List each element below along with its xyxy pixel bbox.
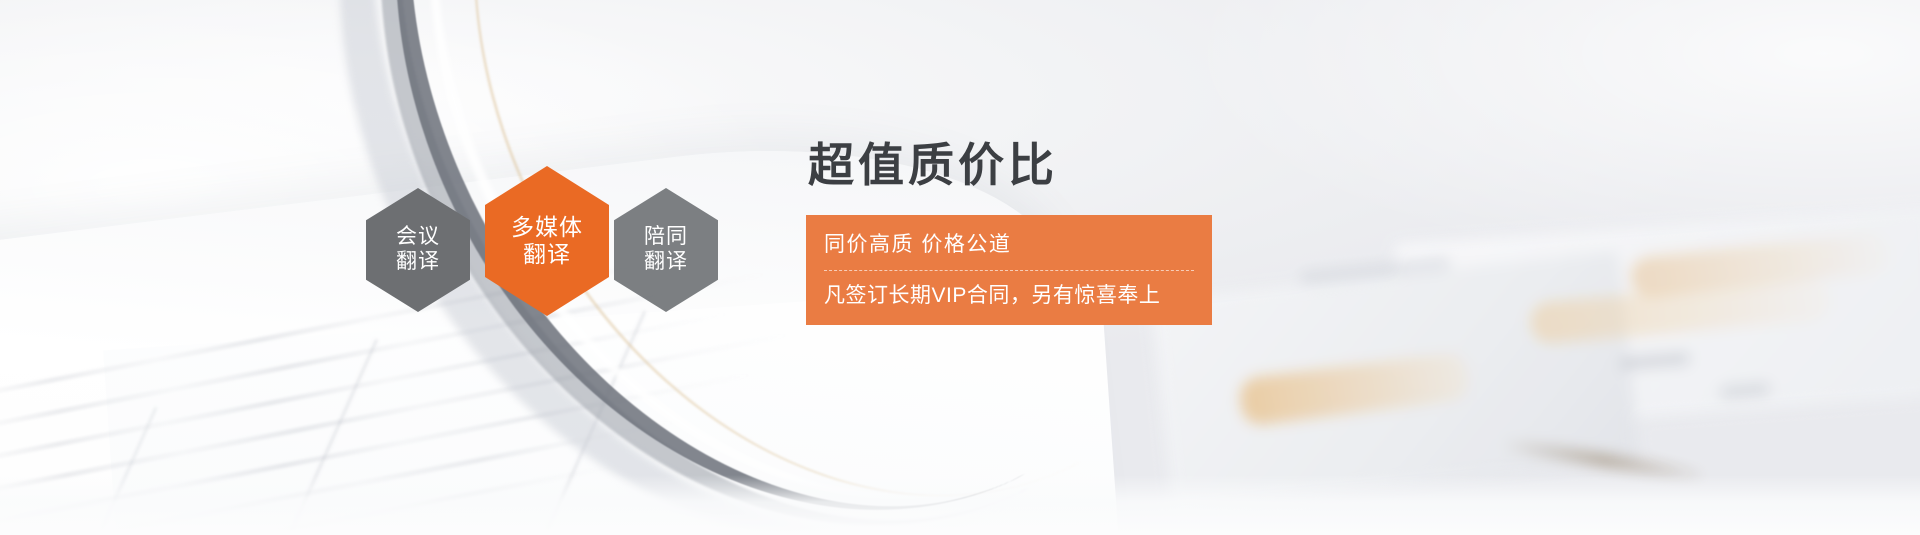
promo-banner: 会议 翻译 陪同 翻译 多媒体 翻译 超值质价比 同价高质 价格公道 凡签订长期… <box>0 0 1920 535</box>
hexagon-label-line2: 翻译 <box>396 250 440 275</box>
promo-box: 同价高质 价格公道 凡签订长期VIP合同，另有惊喜奉上 <box>806 215 1212 325</box>
promo-line-vip: 凡签订长期VIP合同，另有惊喜奉上 <box>824 280 1212 312</box>
hexagon-label-line1: 陪同 <box>644 225 688 250</box>
hexagon-multimedia-translation[interactable]: 多媒体 翻译 <box>485 166 609 316</box>
promo-line-value: 同价高质 价格公道 <box>824 229 1212 270</box>
hexagon-label-line2: 翻译 <box>644 250 688 275</box>
hexagon-conference-translation[interactable]: 会议 翻译 <box>366 188 470 312</box>
service-hexagon-group: 会议 翻译 陪同 翻译 多媒体 翻译 <box>366 150 736 330</box>
hexagon-label-line2: 翻译 <box>523 241 571 268</box>
promo-divider <box>824 270 1194 271</box>
hexagon-label-line1: 会议 <box>396 225 440 250</box>
copy-block: 超值质价比 同价高质 价格公道 凡签订长期VIP合同，另有惊喜奉上 <box>806 138 1226 325</box>
banner-headline: 超值质价比 <box>808 138 1226 193</box>
desk-surface-band <box>0 475 1920 535</box>
hexagon-escort-translation[interactable]: 陪同 翻译 <box>614 188 718 312</box>
hexagon-label-line1: 多媒体 <box>511 214 583 241</box>
